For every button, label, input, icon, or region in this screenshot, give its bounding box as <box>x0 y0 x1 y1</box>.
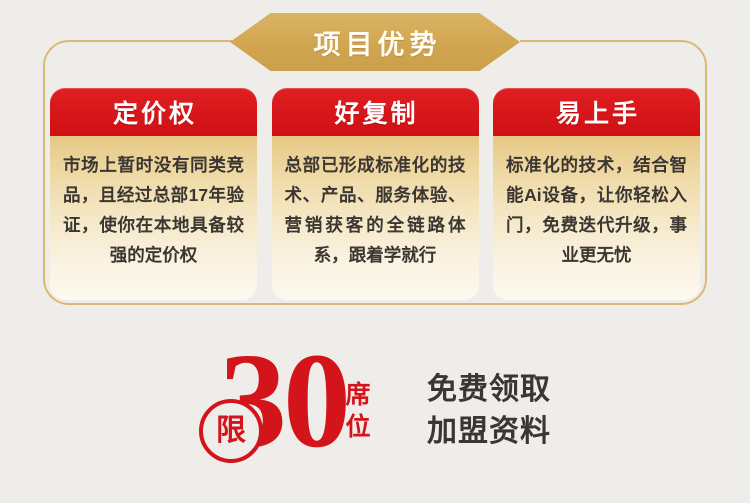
card-3-body-text: 标准化的技术，结合智能Ai设备，让你轻松入门，免费迭代升级，事业更无忧 <box>506 150 687 270</box>
advantage-card-1: 定价权 市场上暂时没有同类竞品，且经过总部17年验证，使你在本地具备较强的定价权 <box>50 88 257 300</box>
seats-unit-label: 席位 <box>341 379 375 443</box>
limited-seats-section: 30 限 席位 免费领取 加盟资料 <box>0 348 750 473</box>
card-3-body: 标准化的技术，结合智能Ai设备，让你轻松入门，免费迭代升级，事业更无忧 <box>493 136 700 300</box>
card-2-header: 好复制 <box>272 88 479 136</box>
card-3-heading: 易上手 <box>553 94 640 130</box>
banner-title: 项目优势 <box>309 23 442 62</box>
advantage-card-3: 易上手 标准化的技术，结合智能Ai设备，让你轻松入门，免费迭代升级，事业更无忧 <box>493 88 700 300</box>
card-2-body-text: 总部已形成标准化的技术、产品、服务体验、营销获客的全链路体系，跟着学就行 <box>285 150 466 270</box>
card-1-header: 定价权 <box>50 88 257 136</box>
card-1-body: 市场上暂时没有同类竞品，且经过总部17年验证，使你在本地具备较强的定价权 <box>50 136 257 300</box>
section-banner: 项目优势 <box>0 13 750 71</box>
advantage-card-2: 好复制 总部已形成标准化的技术、产品、服务体验、营销获客的全链路体系，跟着学就行 <box>272 88 479 300</box>
card-2-heading: 好复制 <box>331 94 418 130</box>
seats-group: 30 限 席位 免费领取 加盟资料 <box>199 351 551 471</box>
limit-badge: 限 <box>199 399 263 463</box>
advantage-cards: 定价权 市场上暂时没有同类竞品，且经过总部17年验证，使你在本地具备较强的定价权… <box>50 88 700 300</box>
cta-line-1: 免费领取 <box>427 369 551 411</box>
card-2-body: 总部已形成标准化的技术、产品、服务体验、营销获客的全链路体系，跟着学就行 <box>272 136 479 300</box>
banner-hexagon: 项目优势 <box>230 13 520 71</box>
card-3-header: 易上手 <box>493 88 700 136</box>
cta-line-2: 加盟资料 <box>427 411 551 453</box>
card-1-body-text: 市场上暂时没有同类竞品，且经过总部17年验证，使你在本地具备较强的定价权 <box>63 150 244 270</box>
cta-text-block[interactable]: 免费领取 加盟资料 <box>427 369 551 453</box>
seats-number-group: 30 限 席位 <box>199 351 411 471</box>
card-1-heading: 定价权 <box>110 94 197 130</box>
limit-badge-text: 限 <box>216 416 246 446</box>
